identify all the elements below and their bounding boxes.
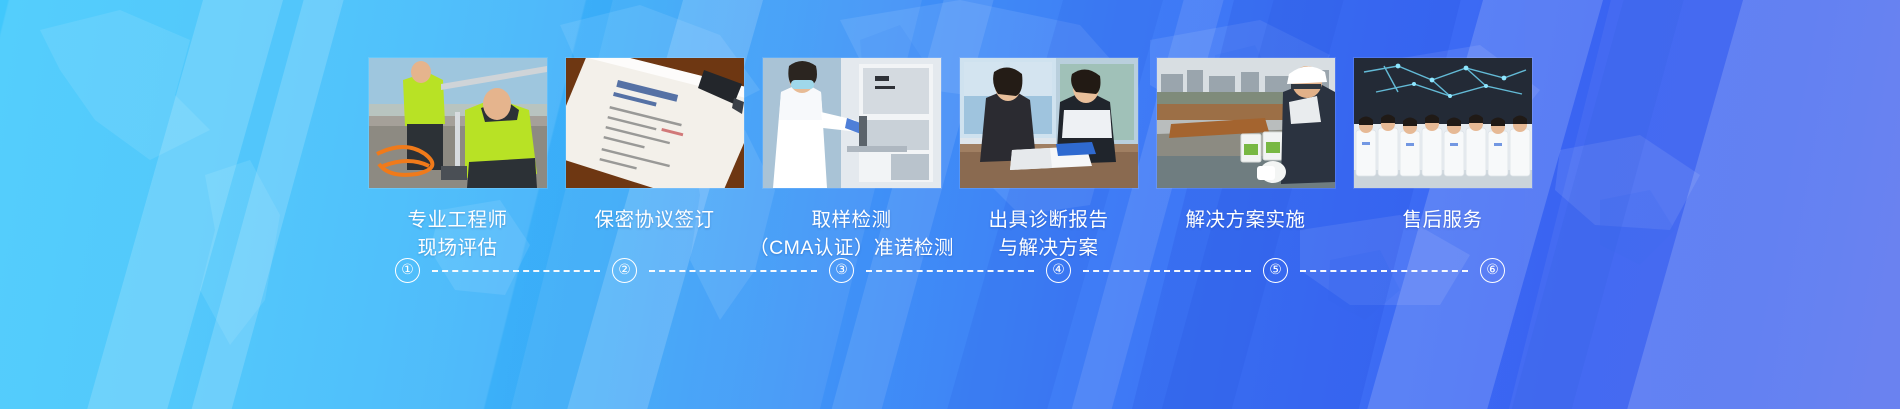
step-number-4[interactable]: ④ xyxy=(1046,258,1071,283)
step-2-thumbnail xyxy=(566,58,744,188)
step-connector-1-2 xyxy=(432,270,600,272)
step-number-1[interactable]: ① xyxy=(395,258,420,283)
step-connector-2-3 xyxy=(649,270,817,272)
step-connector-5-6 xyxy=(1300,270,1468,272)
step-card-list: 专业工程师 现场评估 xyxy=(0,58,1900,262)
step-4-caption: 出具诊断报告 与解决方案 xyxy=(960,207,1138,262)
step-card-2[interactable]: 保密协议签订 xyxy=(566,58,744,235)
step-card-4[interactable]: 出具诊断报告 与解决方案 xyxy=(960,58,1138,262)
step-card-3[interactable]: 取样检测 （CMA认证）准诺检测 xyxy=(763,58,941,262)
step-number-5[interactable]: ⑤ xyxy=(1263,258,1288,283)
step-connector-3-4 xyxy=(866,270,1034,272)
step-5-caption: 解决方案实施 xyxy=(1157,207,1335,235)
step-3-thumbnail xyxy=(763,58,941,188)
step-card-5[interactable]: 解决方案实施 xyxy=(1157,58,1335,235)
step-4-thumbnail xyxy=(960,58,1138,188)
step-number-rail: ① ② ③ ④ ⑤ ⑥ xyxy=(0,258,1900,283)
step-5-thumbnail xyxy=(1157,58,1335,188)
step-3-caption: 取样检测 （CMA认证）准诺检测 xyxy=(739,207,965,262)
step-number-3[interactable]: ③ xyxy=(829,258,854,283)
step-1-thumbnail xyxy=(369,58,547,188)
step-card-1[interactable]: 专业工程师 现场评估 xyxy=(369,58,547,262)
step-1-caption: 专业工程师 现场评估 xyxy=(369,207,547,262)
step-6-caption: 售后服务 xyxy=(1354,207,1532,235)
process-flow-banner: 专业工程师 现场评估 xyxy=(0,0,1900,409)
step-2-caption: 保密协议签订 xyxy=(566,207,744,235)
step-6-thumbnail xyxy=(1354,58,1532,188)
step-card-6[interactable]: 售后服务 xyxy=(1354,58,1532,235)
step-connector-4-5 xyxy=(1083,270,1251,272)
step-number-2[interactable]: ② xyxy=(612,258,637,283)
step-number-6[interactable]: ⑥ xyxy=(1480,258,1505,283)
